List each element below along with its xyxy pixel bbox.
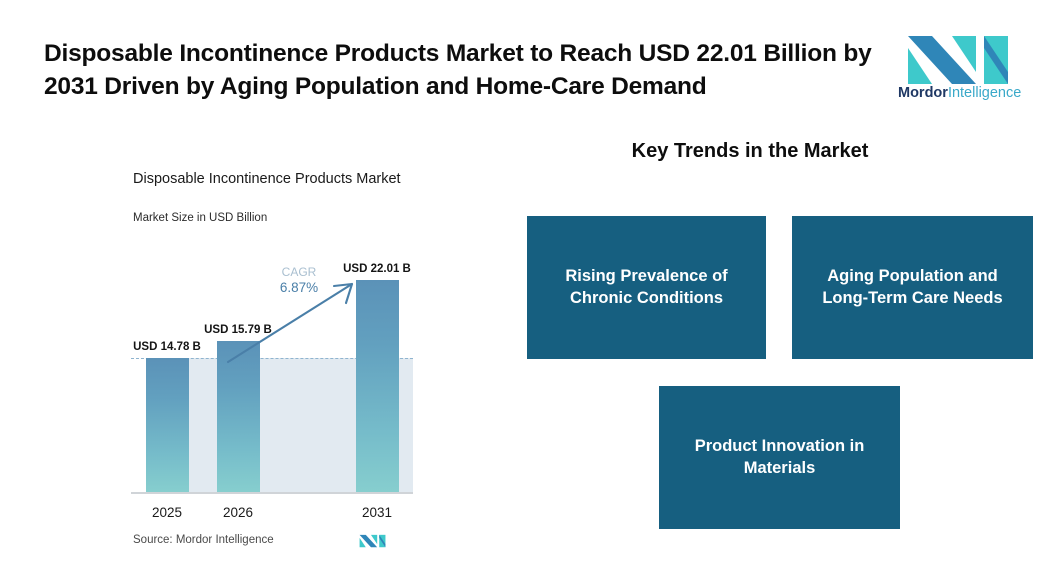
chart-title: Disposable Incontinence Products Market [133,170,413,190]
x-axis-label-2031: 2031 [347,505,407,520]
trend-card-label: Product Innovation in Materials [673,436,886,478]
cagr-annotation: CAGR 6.87% [259,265,339,296]
brand-logo: MordorIntelligence [898,28,1014,106]
trend-card-1[interactable]: Aging Population and Long-Term Care Need… [792,216,1033,359]
brand-word-light: Intelligence [948,85,1021,101]
chart-plot-area: USD 14.78 B USD 15.79 B USD 22.01 B 2025… [131,260,413,492]
mordor-intelligence-logo-small-icon [357,532,387,548]
brand-word-bold: Mordor [898,85,948,101]
trend-card-label: Rising Prevalence of Chronic Conditions [541,266,752,308]
page-title: Disposable Incontinence Products Market … [44,38,874,103]
cagr-value-text: 6.87% [259,280,339,296]
brand-wordmark: MordorIntelligence [898,86,1014,101]
x-axis-label-2026: 2026 [208,505,268,520]
chart-source-row: Source: Mordor Intelligence [133,532,413,554]
bar-2025 [146,358,189,492]
cagr-label-text: CAGR [259,265,339,280]
source-label: Source: Mordor Intelligence [133,534,274,546]
mordor-intelligence-logo-icon [898,28,1014,84]
bar-value-2025: USD 14.78 B [117,341,217,353]
trend-card-2[interactable]: Product Innovation in Materials [659,386,900,529]
x-axis-label-2025: 2025 [137,505,197,520]
x-axis-line [131,492,413,494]
chart-panel: Disposable Incontinence Products Market … [0,150,470,570]
trend-card-0[interactable]: Rising Prevalence of Chronic Conditions [527,216,766,359]
key-trends-heading: Key Trends in the Market [540,140,960,163]
trend-card-label: Aging Population and Long-Term Care Need… [806,266,1019,308]
chart-subtitle: Market Size in USD Billion [133,212,267,224]
